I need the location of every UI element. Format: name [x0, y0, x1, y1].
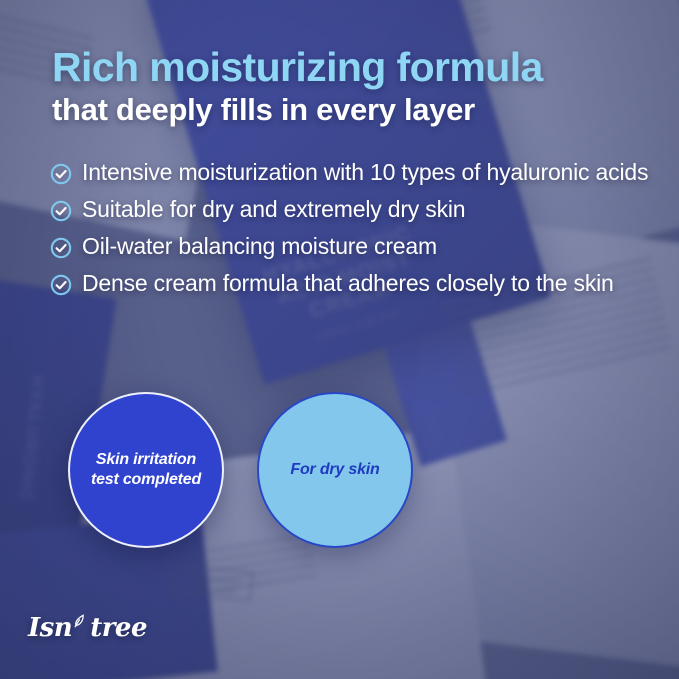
badge-line-2: test completed — [91, 470, 201, 490]
feature-list: Intensive moisturization with 10 types o… — [50, 158, 650, 306]
banner-content: Rich moisturizing formula that deeply fi… — [0, 0, 679, 679]
list-item: Intensive moisturization with 10 types o… — [50, 158, 650, 187]
brand-logo-text-after: tree — [90, 613, 147, 643]
skin-irritation-badge-label: Skin irritation test completed — [91, 450, 201, 489]
check-circle-icon — [50, 274, 72, 296]
list-item-label: Dense cream formula that adheres closely… — [82, 269, 614, 298]
headline: Rich moisturizing formula that deeply fi… — [52, 46, 642, 127]
headline-line-1: Rich moisturizing formula — [52, 46, 642, 89]
headline-line-2: that deeply fills in every layer — [52, 93, 642, 128]
list-item: Oil-water balancing moisture cream — [50, 232, 650, 261]
list-item: Dense cream formula that adheres closely… — [50, 269, 650, 298]
list-item-label: Oil-water balancing moisture cream — [82, 232, 437, 261]
check-circle-icon — [50, 237, 72, 259]
brand-logo-text-before: Isn — [28, 613, 72, 643]
brand-logo: Isn tree — [28, 612, 147, 643]
check-circle-icon — [50, 163, 72, 185]
list-item: Suitable for dry and extremely dry skin — [50, 195, 650, 224]
for-dry-skin-badge: For dry skin — [257, 392, 413, 548]
skin-irritation-badge: Skin irritation test completed — [68, 392, 224, 548]
check-circle-icon — [50, 200, 72, 222]
list-item-label: Suitable for dry and extremely dry skin — [82, 195, 465, 224]
badge-line-1: Skin irritation — [91, 450, 201, 470]
list-item-label: Intensive moisturization with 10 types o… — [82, 158, 648, 187]
product-banner: HYALURONIC ACID MOIST CREAM 100ml / 3.38… — [0, 0, 679, 679]
for-dry-skin-badge-label: For dry skin — [290, 461, 379, 479]
leaf-icon — [69, 612, 89, 637]
